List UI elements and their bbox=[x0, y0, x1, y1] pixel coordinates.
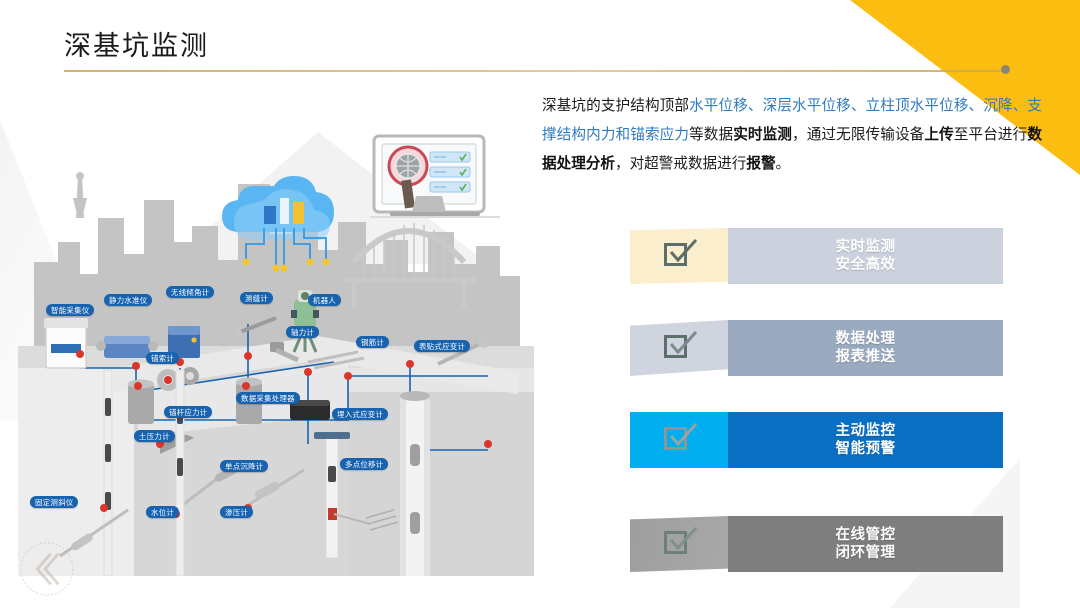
paragraph-seg-3: 等数据 bbox=[689, 127, 733, 143]
checkbox-check-icon bbox=[664, 425, 694, 455]
feature-line-1: 主动监控 bbox=[836, 423, 896, 439]
monitoring-scene-illustration: 智能采集仪 静力水准仪 无线倾角计 测缝计 机器人 轴力计 锚索计 钢筋计 表贴… bbox=[18, 114, 534, 576]
device-tag: 无线倾角计 bbox=[166, 286, 214, 298]
feature-label: 主动监控智能预警 bbox=[728, 412, 1003, 468]
device-tag: 埋入式应变计 bbox=[332, 408, 388, 420]
paragraph-seg-1: 深基坑的支护结构顶部 bbox=[542, 98, 689, 114]
monitor-search-icon bbox=[370, 136, 500, 218]
checkbox-check-icon bbox=[664, 529, 694, 559]
paragraph-bold-realtime: 实时监测 bbox=[733, 127, 792, 143]
feature-line-2: 闭环管理 bbox=[836, 544, 896, 562]
paragraph-seg-11: 。 bbox=[776, 156, 791, 172]
watermark-logo bbox=[18, 540, 76, 598]
device-tag: 单点沉降计 bbox=[220, 460, 268, 472]
feature-icon-tab bbox=[630, 228, 728, 284]
paragraph-seg-5: ，通过无限传输设备 bbox=[792, 127, 924, 143]
paragraph-seg-9: ，对超警戒数据进行 bbox=[615, 156, 746, 172]
device-tag: 测缝计 bbox=[240, 292, 273, 304]
feature-line-2: 智能预警 bbox=[836, 440, 896, 458]
device-tag: 锚杆应力计 bbox=[164, 406, 212, 418]
paragraph-bold-upload: 上传 bbox=[924, 127, 953, 143]
feature-line-2: 安全高效 bbox=[836, 256, 896, 274]
device-tag: 渗压计 bbox=[220, 506, 253, 518]
device-tag: 锚索计 bbox=[146, 352, 179, 364]
feature-icon-tab bbox=[630, 516, 728, 572]
device-tag: 机器人 bbox=[308, 294, 341, 306]
checkbox-check-icon bbox=[664, 333, 694, 363]
device-tag: 水位计 bbox=[146, 506, 179, 518]
feature-line-2: 报表推送 bbox=[836, 348, 896, 366]
device-tag: 钢筋计 bbox=[356, 336, 389, 348]
device-tag: 土压力计 bbox=[134, 430, 175, 442]
device-tag: 静力水准仪 bbox=[104, 294, 152, 306]
feature-label: 在线管控闭环管理 bbox=[728, 516, 1003, 572]
feature-line-1: 在线管控 bbox=[836, 527, 896, 543]
feature-line-1: 数据处理 bbox=[836, 331, 896, 347]
title-divider bbox=[64, 70, 1009, 72]
description-paragraph: 深基坑的支护结构顶部水平位移、深层水平位移、立柱顶水平位移、沉降、支撑结构内力和… bbox=[542, 92, 1042, 179]
title-divider-dot bbox=[1001, 65, 1010, 74]
feature-line-1: 实时监测 bbox=[836, 239, 896, 255]
device-tag: 表贴式应变计 bbox=[414, 340, 470, 352]
feature-label: 数据处理报表推送 bbox=[728, 320, 1003, 376]
device-tag: 固定测斜仪 bbox=[30, 496, 78, 508]
device-tag: 数据采集处理器 bbox=[236, 392, 300, 404]
feature-icon-tab bbox=[630, 412, 728, 468]
feature-icon-tab bbox=[630, 320, 728, 376]
feature-label: 实时监测安全高效 bbox=[728, 228, 1003, 284]
device-tag: 多点位移计 bbox=[340, 458, 388, 470]
checkbox-check-icon bbox=[664, 241, 694, 271]
paragraph-seg-7: 至平台进行 bbox=[954, 127, 1028, 143]
page-title: 深基坑监测 bbox=[64, 24, 209, 63]
paragraph-bold-alarm: 报警 bbox=[746, 156, 775, 172]
device-tag: 轴力计 bbox=[286, 326, 319, 338]
device-tag: 智能采集仪 bbox=[46, 304, 94, 316]
